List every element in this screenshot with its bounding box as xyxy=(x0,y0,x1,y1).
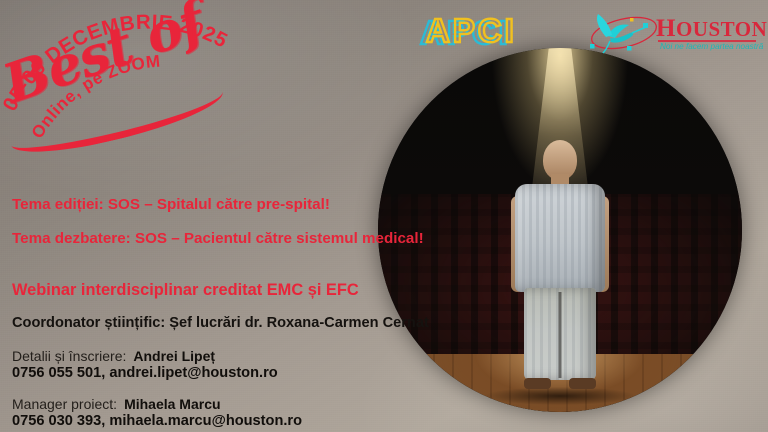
best-of-badge: Best of 05-06 DECEMBRIE 2025 Online, pe … xyxy=(0,2,262,172)
contact-1-role-row: Detalii și înscriere:Andrei Lipeț xyxy=(12,348,215,364)
contact-2-details[interactable]: 0756 030 393, mihaela.marcu@houston.ro xyxy=(12,413,302,429)
houston-wordmark-rest: OUSTON xyxy=(676,17,767,41)
houston-wordmark: HOUSTON xyxy=(656,15,767,43)
apci-logo-yellow-layer: APCI xyxy=(426,11,517,51)
houston-wordmark-initial: H xyxy=(656,15,676,42)
topic-debate-line: Tema dezbatere: SOS – Pacientul către si… xyxy=(12,230,424,247)
webinar-promo-banner: APCI APCI HOUSTON Noi ne facem partea no… xyxy=(0,0,768,432)
houston-tagline: Noi ne facem partea noastră xyxy=(660,42,763,51)
badge-date-line: 05-06 DECEMBRIE 2025 xyxy=(0,10,231,114)
contact-1-details[interactable]: 0756 055 501, andrei.lipet@houston.ro xyxy=(12,365,278,381)
figure-left-sandal xyxy=(524,378,551,389)
contact-2-role: Manager proiect: xyxy=(12,396,117,412)
coordinator-line: Coordonator științific: Șef lucrări dr. … xyxy=(12,315,429,331)
patient-figure xyxy=(512,140,608,392)
figure-leg-split xyxy=(559,292,562,378)
figure-hospital-gown xyxy=(515,184,605,292)
credits-line: Webinar interdisciplinar creditat EMC și… xyxy=(12,281,359,300)
topic-edition-line: Tema ediției: SOS – Spitalul către pre-s… xyxy=(12,196,330,213)
figure-right-sandal xyxy=(569,378,596,389)
contact-2-name: Mihaela Marcu xyxy=(124,396,220,412)
contact-1-name: Andrei Lipeț xyxy=(133,348,215,364)
contact-1-role: Detalii și înscriere: xyxy=(12,348,126,364)
contact-2-role-row: Manager proiect:Mihaela Marcu xyxy=(12,396,221,412)
apci-logo[interactable]: APCI APCI xyxy=(424,12,536,52)
hummingbird-icon xyxy=(586,6,660,58)
patient-on-stage-photo xyxy=(378,48,742,412)
houston-logo[interactable]: HOUSTON Noi ne facem partea noastră xyxy=(586,6,762,58)
badge-arc-text: 05-06 DECEMBRIE 2025 Online, pe ZOOM xyxy=(0,2,262,172)
